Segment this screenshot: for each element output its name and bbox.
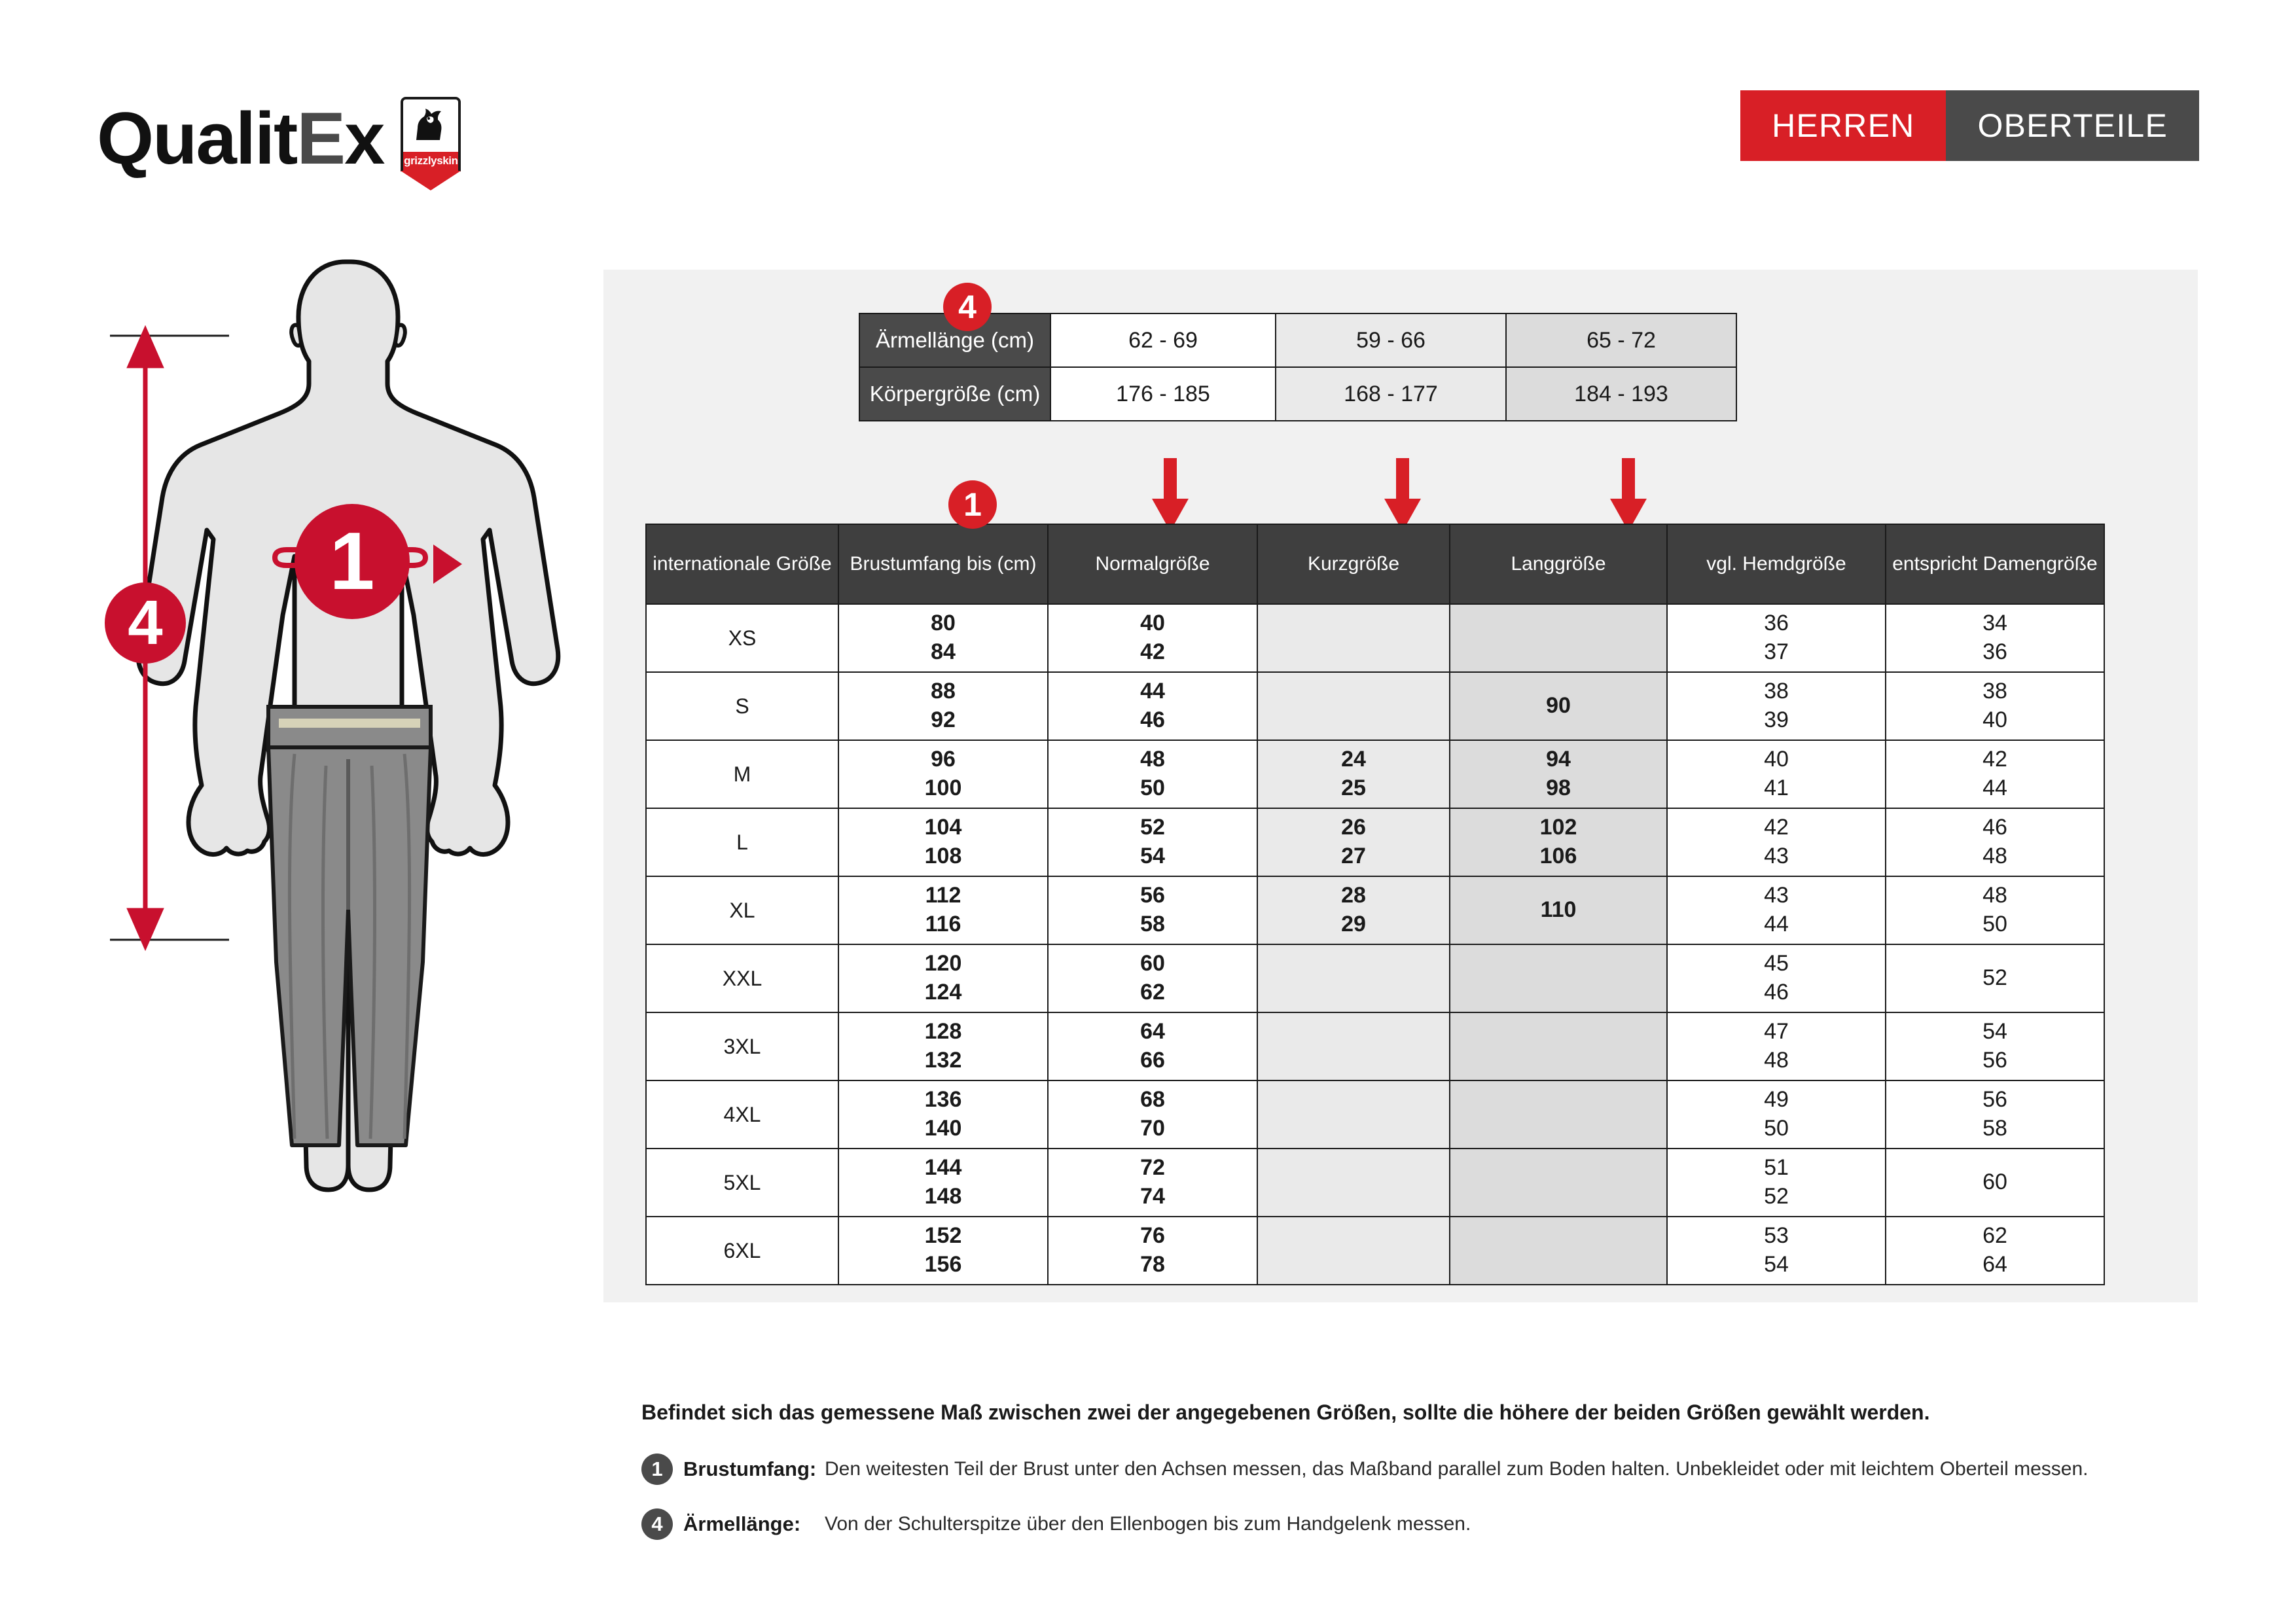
cell-hemd: 3637 bbox=[1667, 604, 1886, 672]
cell-intl: L bbox=[646, 808, 838, 876]
shield-point-shape bbox=[401, 171, 461, 190]
bear-head-icon bbox=[411, 102, 450, 149]
cell-normal: 4042 bbox=[1048, 604, 1257, 672]
cell-kurz bbox=[1257, 604, 1450, 672]
cell-kurz: 2425 bbox=[1257, 740, 1450, 808]
body-height-label: Körpergröße (cm) bbox=[859, 367, 1050, 421]
table-row: 3XL128132646647485456 bbox=[646, 1012, 2104, 1080]
table-row: Ärmellänge (cm) 62 - 69 59 - 66 65 - 72 bbox=[859, 313, 1736, 367]
brand-wordmark: QualitEx bbox=[97, 102, 384, 175]
cell-lang: 9498 bbox=[1450, 740, 1667, 808]
cell-intl: XL bbox=[646, 876, 838, 944]
cell-normal: 5254 bbox=[1048, 808, 1257, 876]
cell-damen: 52 bbox=[1886, 944, 2104, 1012]
sleeve-badge-label: 4 bbox=[128, 588, 162, 658]
cell-lang: 102106 bbox=[1450, 808, 1667, 876]
cell-intl: 3XL bbox=[646, 1012, 838, 1080]
size-table: internationale Größe Brustumfang bis (cm… bbox=[645, 524, 2105, 1285]
header-kurzgroesse: Kurzgröße bbox=[1257, 524, 1450, 604]
header-hemdgroesse: vgl. Hemdgröße bbox=[1667, 524, 1886, 604]
cell-kurz bbox=[1257, 672, 1450, 740]
cell-chest: 136140 bbox=[838, 1080, 1048, 1149]
cell-intl: XS bbox=[646, 604, 838, 672]
note-lead-text: Befindet sich das gemessene Maß zwischen… bbox=[641, 1400, 2147, 1425]
cell-chest: 8892 bbox=[838, 672, 1048, 740]
cell-normal: 4446 bbox=[1048, 672, 1257, 740]
cell-normal: 6870 bbox=[1048, 1080, 1257, 1149]
size-table-body: XS8084404236373436S889244469038393840M96… bbox=[646, 604, 2104, 1285]
tab-herren[interactable]: HERREN bbox=[1740, 90, 1946, 161]
sleeve-reference-badge: 4 bbox=[943, 283, 992, 331]
header-normalgroesse: Normalgröße bbox=[1048, 524, 1257, 604]
cell-damen: 4648 bbox=[1886, 808, 2104, 876]
cell-hemd: 5354 bbox=[1667, 1217, 1886, 1285]
cell-damen: 5456 bbox=[1886, 1012, 2104, 1080]
table-row: S889244469038393840 bbox=[646, 672, 2104, 740]
cell-intl: XXL bbox=[646, 944, 838, 1012]
cell-normal: 6466 bbox=[1048, 1012, 1257, 1080]
sleeve-height-table: Ärmellänge (cm) 62 - 69 59 - 66 65 - 72 … bbox=[859, 313, 1737, 421]
cell-intl: 6XL bbox=[646, 1217, 838, 1285]
cell-normal: 7274 bbox=[1048, 1149, 1257, 1217]
height-long-value: 184 - 193 bbox=[1506, 367, 1736, 421]
cell-damen: 6264 bbox=[1886, 1217, 2104, 1285]
note-badge-1: 1 bbox=[641, 1454, 673, 1485]
chest-badge: 1 bbox=[295, 504, 410, 619]
note-key-aermellaenge: Ärmellänge: bbox=[683, 1512, 825, 1536]
cell-hemd: 4041 bbox=[1667, 740, 1886, 808]
brand-name-accent: E bbox=[296, 102, 344, 175]
cell-chest: 96100 bbox=[838, 740, 1048, 808]
sleeve-normal-value: 62 - 69 bbox=[1050, 313, 1276, 367]
cell-hemd: 4546 bbox=[1667, 944, 1886, 1012]
grizzlyskin-badge-icon: grizzlyskin bbox=[401, 97, 461, 181]
measurement-notes: Befindet sich das gemessene Maß zwischen… bbox=[641, 1400, 2147, 1563]
cell-chest: 152156 bbox=[838, 1217, 1048, 1285]
table-row: L1041085254262710210642434648 bbox=[646, 808, 2104, 876]
table-row: 4XL136140687049505658 bbox=[646, 1080, 2104, 1149]
cell-normal: 6062 bbox=[1048, 944, 1257, 1012]
cell-damen: 60 bbox=[1886, 1149, 2104, 1217]
table-header-row: internationale Größe Brustumfang bis (cm… bbox=[646, 524, 2104, 604]
cell-chest: 104108 bbox=[838, 808, 1048, 876]
height-short-value: 168 - 177 bbox=[1276, 367, 1506, 421]
cell-damen: 3840 bbox=[1886, 672, 2104, 740]
arrow-down-kurz-icon bbox=[1384, 458, 1421, 531]
chest-badge-label: 1 bbox=[330, 516, 375, 607]
cell-hemd: 4243 bbox=[1667, 808, 1886, 876]
sleeve-length-badge: 4 bbox=[105, 582, 186, 664]
height-normal-value: 176 - 185 bbox=[1050, 367, 1276, 421]
table-row: Körpergröße (cm) 176 - 185 168 - 177 184… bbox=[859, 367, 1736, 421]
chest-reference-badge: 1 bbox=[948, 480, 997, 529]
note-text-aermellaenge: Von der Schulterspitze über den Ellenbog… bbox=[825, 1513, 1471, 1535]
table-row: M9610048502425949840414244 bbox=[646, 740, 2104, 808]
header-brustumfang: Brustumfang bis (cm) bbox=[838, 524, 1048, 604]
cell-chest: 144148 bbox=[838, 1149, 1048, 1217]
cell-normal: 4850 bbox=[1048, 740, 1257, 808]
cell-intl: 5XL bbox=[646, 1149, 838, 1217]
cell-normal: 7678 bbox=[1048, 1217, 1257, 1285]
cell-hemd: 3839 bbox=[1667, 672, 1886, 740]
cell-hemd: 5152 bbox=[1667, 1149, 1886, 1217]
sleeve-short-value: 59 - 66 bbox=[1276, 313, 1506, 367]
cell-intl: 4XL bbox=[646, 1080, 838, 1149]
cell-intl: S bbox=[646, 672, 838, 740]
brand-logo: QualitEx grizzlyskin bbox=[97, 97, 461, 181]
sleeve-long-value: 65 - 72 bbox=[1506, 313, 1736, 367]
table-row: 5XL1441487274515260 bbox=[646, 1149, 2104, 1217]
table-row: XXL1201246062454652 bbox=[646, 944, 2104, 1012]
cell-lang: 90 bbox=[1450, 672, 1667, 740]
size-chart-page: QualitEx grizzlyskin HERREN OBERTEILE bbox=[0, 0, 2296, 1623]
brand-name-tail: x bbox=[344, 102, 384, 175]
arrow-down-normal-icon bbox=[1152, 458, 1189, 531]
cell-kurz bbox=[1257, 944, 1450, 1012]
cell-lang bbox=[1450, 1080, 1667, 1149]
cell-hemd: 4344 bbox=[1667, 876, 1886, 944]
note-item-sleeve: 4 Ärmellänge: Von der Schulterspitze übe… bbox=[641, 1508, 2147, 1540]
brand-name-main: Qualit bbox=[97, 102, 296, 175]
cell-chest: 128132 bbox=[838, 1012, 1048, 1080]
cell-kurz bbox=[1257, 1012, 1450, 1080]
table-row: 6XL152156767853546264 bbox=[646, 1217, 2104, 1285]
cell-kurz bbox=[1257, 1149, 1450, 1217]
note-badge-4: 4 bbox=[641, 1508, 673, 1540]
cell-kurz: 2829 bbox=[1257, 876, 1450, 944]
cell-damen: 3436 bbox=[1886, 604, 2104, 672]
note-key-brustumfang: Brustumfang: bbox=[683, 1457, 825, 1481]
arrow-down-lang-icon bbox=[1610, 458, 1647, 531]
category-tabs: HERREN OBERTEILE bbox=[1740, 90, 2199, 161]
cell-chest: 8084 bbox=[838, 604, 1048, 672]
table-row: XS8084404236373436 bbox=[646, 604, 2104, 672]
header-damengroesse: entspricht Damengröße bbox=[1886, 524, 2104, 604]
cell-chest: 112116 bbox=[838, 876, 1048, 944]
cell-lang bbox=[1450, 604, 1667, 672]
cell-intl: M bbox=[646, 740, 838, 808]
header-internationale-groesse: internationale Größe bbox=[646, 524, 838, 604]
cell-lang bbox=[1450, 1217, 1667, 1285]
cell-damen: 4244 bbox=[1886, 740, 2104, 808]
cell-lang: 110 bbox=[1450, 876, 1667, 944]
cell-hemd: 4950 bbox=[1667, 1080, 1886, 1149]
grizzlyskin-label: grizzlyskin bbox=[401, 154, 461, 168]
body-measurement-figure: 4 1 bbox=[98, 249, 596, 1243]
cell-lang bbox=[1450, 1012, 1667, 1080]
note-item-chest: 1 Brustumfang: Den weitesten Teil der Br… bbox=[641, 1454, 2147, 1485]
cell-damen: 5658 bbox=[1886, 1080, 2104, 1149]
cell-hemd: 4748 bbox=[1667, 1012, 1886, 1080]
note-text-brustumfang: Den weitesten Teil der Brust unter den A… bbox=[825, 1458, 2088, 1480]
table-row: XL1121165658282911043444850 bbox=[646, 876, 2104, 944]
cell-kurz bbox=[1257, 1217, 1450, 1285]
header-langgroesse: Langgröße bbox=[1450, 524, 1667, 604]
cell-normal: 5658 bbox=[1048, 876, 1257, 944]
cell-damen: 4850 bbox=[1886, 876, 2104, 944]
cell-lang bbox=[1450, 944, 1667, 1012]
cell-kurz bbox=[1257, 1080, 1450, 1149]
cell-lang bbox=[1450, 1149, 1667, 1217]
cell-chest: 120124 bbox=[838, 944, 1048, 1012]
cell-kurz: 2627 bbox=[1257, 808, 1450, 876]
tab-oberteile[interactable]: OBERTEILE bbox=[1946, 90, 2199, 161]
